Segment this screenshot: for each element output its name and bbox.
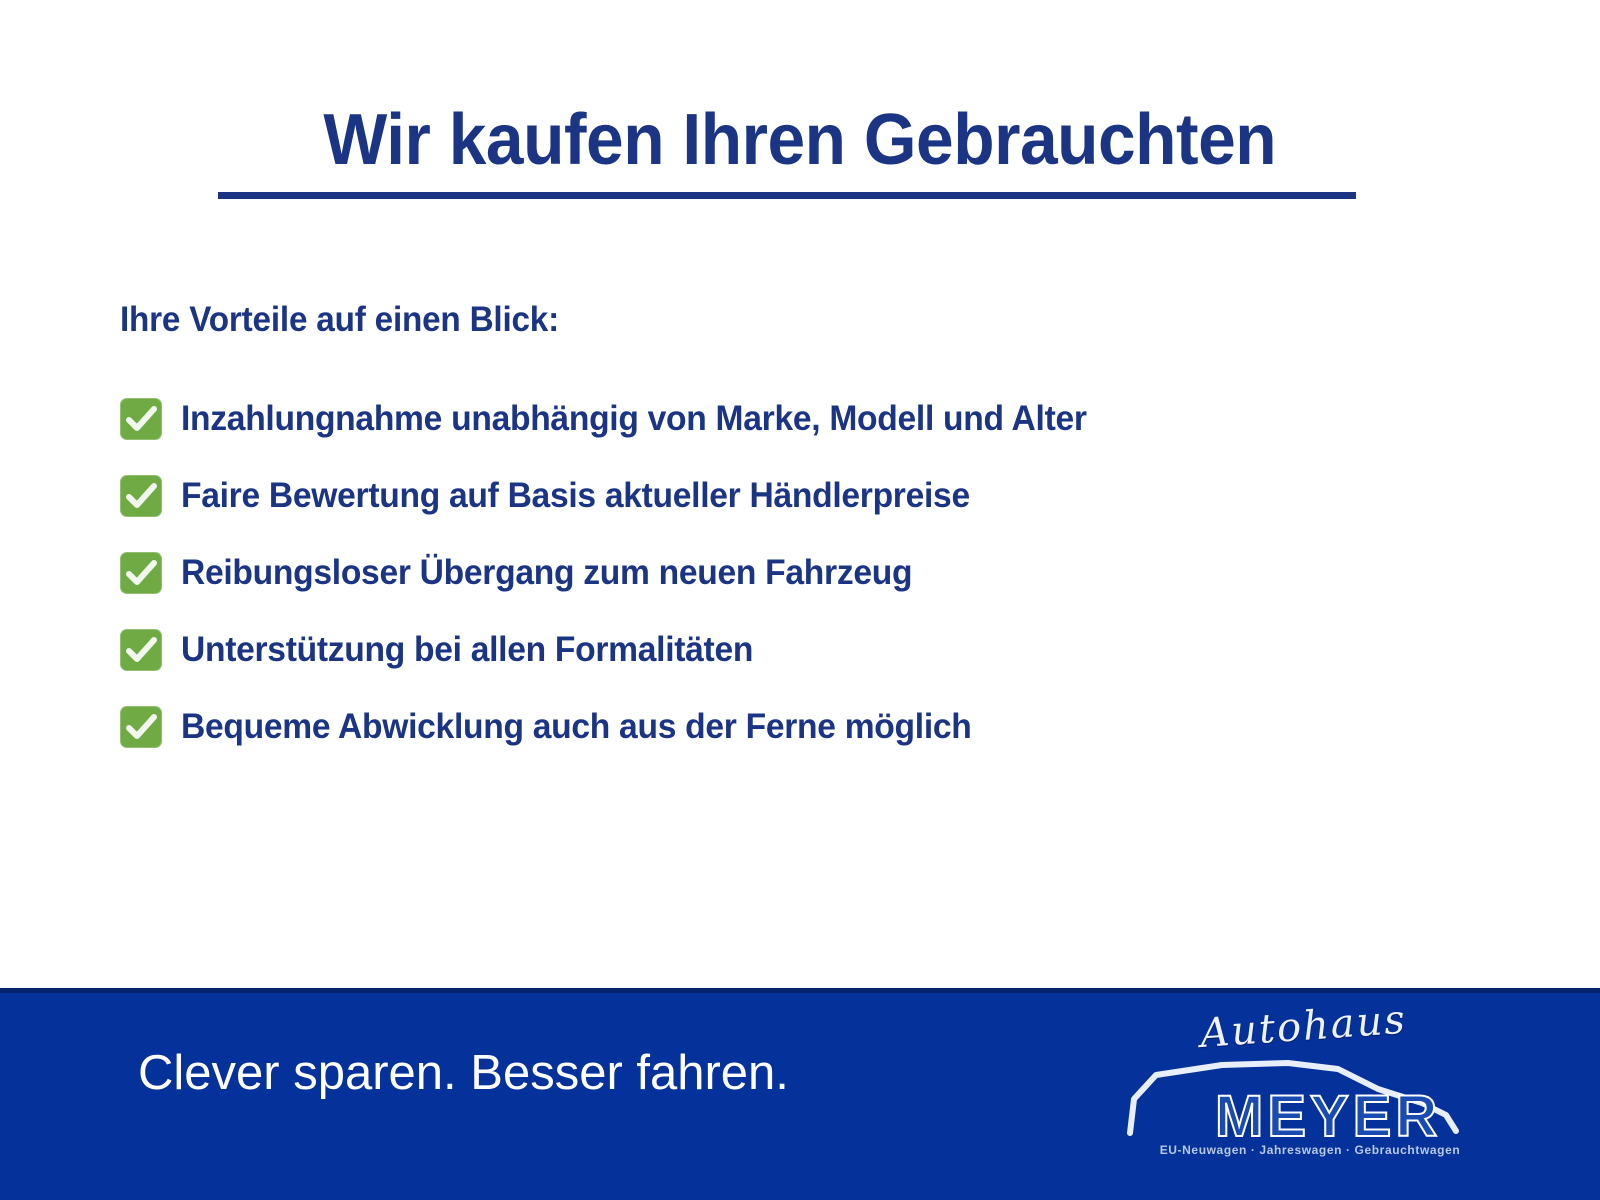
list-item: Faire Bewertung auf Basis aktueller Händ… [120,457,1520,534]
list-item: Inzahlungnahme unabhängig von Marke, Mod… [120,380,1520,457]
benefits-subheading: Ihre Vorteile auf einen Blick: [120,300,559,340]
logo-name-text: MEYER [1215,1083,1441,1150]
logo-subtitle-text: EU-Neuwagen · Jahreswagen · Gebrauchtwag… [1140,1143,1480,1157]
footer-tagline: Clever sparen. Besser fahren. [138,1045,789,1101]
title-underline [218,192,1356,199]
list-item: Unterstützung bei allen Formalitäten [120,611,1520,688]
page-title: Wir kaufen Ihren Gebrauchten [324,104,1277,176]
list-item-label: Inzahlungnahme unabhängig von Marke, Mod… [181,399,1087,439]
dealer-logo: Autohaus MEYER EU-Neuwagen · Jahreswagen… [1110,1003,1480,1163]
list-item-label: Bequeme Abwicklung auch aus der Ferne mö… [181,707,972,747]
title-block: Wir kaufen Ihren Gebrauchten [0,104,1600,176]
list-item-label: Unterstützung bei allen Formalitäten [181,630,753,670]
check-mark-icon [120,706,162,748]
list-item: Reibungsloser Übergang zum neuen Fahrzeu… [120,534,1520,611]
list-item-label: Faire Bewertung auf Basis aktueller Händ… [181,476,970,516]
check-mark-icon [120,629,162,671]
check-mark-icon [120,398,162,440]
footer-bar: Clever sparen. Besser fahren. Autohaus M… [0,988,1600,1200]
benefits-list: Inzahlungnahme unabhängig von Marke, Mod… [120,380,1520,765]
check-mark-icon [120,475,162,517]
check-mark-icon [120,552,162,594]
list-item: Bequeme Abwicklung auch aus der Ferne mö… [120,688,1520,765]
ad-page: Wir kaufen Ihren Gebrauchten Ihre Vortei… [0,0,1600,1200]
list-item-label: Reibungsloser Übergang zum neuen Fahrzeu… [181,553,912,593]
